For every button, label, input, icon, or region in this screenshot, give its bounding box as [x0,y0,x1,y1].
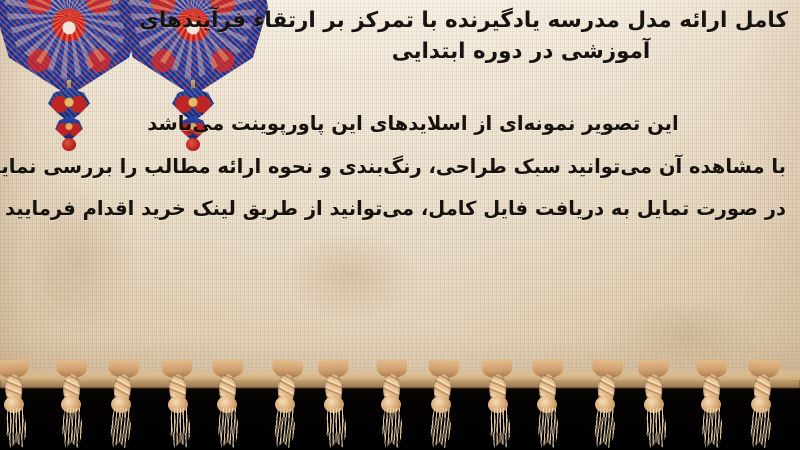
fringe-brush [701,408,723,448]
fringe-brush [381,408,403,448]
medallion-ring-pattern [4,0,134,82]
fringe-tassel [102,359,141,450]
slide-body-line-2: با مشاهده آن می‌توانید سبک طراحی، رنگ‌بن… [14,155,786,180]
fringe-brush [324,407,348,448]
fringe-tassel [422,359,461,450]
slide-title-line-1: کامل ارائه مدل مدرسه یادگیرنده با تمرکز … [188,6,788,37]
fringe-brush [748,407,772,448]
fringe-tassel [742,359,781,450]
fringe-brush [644,407,668,448]
fringe-brush [592,407,616,448]
fringe-brush [537,408,559,448]
slide-body-line-1: این تصویر نمونه‌ای از اسلایدهای این پاور… [14,112,786,137]
fringe-brush [168,407,192,448]
fringe-brush [4,407,28,448]
fringe-brush [217,408,239,448]
fringe-tassel [375,360,409,450]
fringe-brush [488,407,512,448]
fringe-tassel [480,359,519,450]
carpet-fringe-tassels [0,360,800,450]
fringe-tassel [636,359,675,450]
fringe-brush [272,407,296,448]
fringe-tassel [55,360,89,450]
fringe-brush [108,407,132,448]
presentation-slide: کامل ارائه مدل مدرسه یادگیرنده با تمرکز … [0,0,800,450]
slide-body-text: این تصویر نمونه‌ای از اسلایدهای این پاور… [14,112,786,240]
slide-body-line-3: در صورت تمایل به دریافت فایل کامل، می‌تو… [14,197,786,222]
fringe-tassel [316,359,355,450]
fringe-brush [428,407,452,448]
fringe-tassel [160,359,199,450]
fringe-tassel [0,359,34,450]
fringe-tassel [266,359,305,450]
fringe-tassel [211,360,245,450]
fringe-brush [61,408,83,448]
fringe-tassel [531,360,565,450]
fringe-tassel [586,359,625,450]
slide-title: کامل ارائه مدل مدرسه یادگیرنده با تمرکز … [188,6,788,67]
slide-title-line-2: آموزشی در دوره ابتدایی [188,37,788,68]
fringe-tassel [695,360,729,450]
